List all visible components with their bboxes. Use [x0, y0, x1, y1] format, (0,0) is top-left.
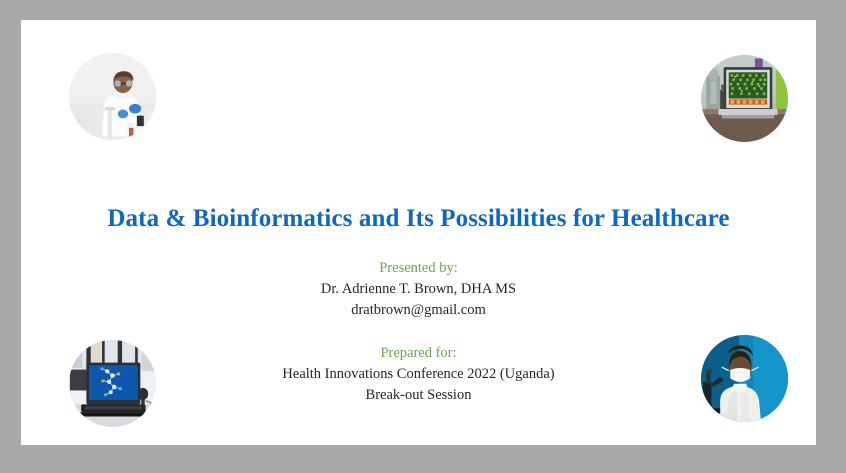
prepared-for-label: Prepared for: [31, 343, 806, 364]
slide-body: Presented by: Dr. Adrienne T. Brown, DHA… [31, 258, 806, 435]
monitor-microarray-heatmap-photo [701, 55, 788, 142]
scientist-in-lab-coat-photo [69, 53, 156, 140]
monitor-microarray-heatmap-image [701, 55, 788, 142]
slide-frame: Data & Bioinformatics and Its Possibilit… [21, 20, 816, 445]
title-slide: Data & Bioinformatics and Its Possibilit… [31, 30, 806, 435]
presenter-name: Dr. Adrienne T. Brown, DHA MS [31, 279, 806, 300]
session-name: Break-out Session [31, 385, 806, 406]
event-name: Health Innovations Conference 2022 (Ugan… [31, 364, 806, 385]
page-title: Data & Bioinformatics and Its Possibilit… [31, 205, 806, 233]
presented-by-label: Presented by: [31, 258, 806, 279]
presenter-email: dratbrown@gmail.com [31, 300, 806, 321]
presentation-date: December 12, 2022 [31, 432, 806, 435]
body-spacer [31, 321, 806, 343]
presentation-canvas: Data & Bioinformatics and Its Possibilit… [0, 0, 846, 473]
scientist-in-lab-coat-image [69, 53, 156, 140]
